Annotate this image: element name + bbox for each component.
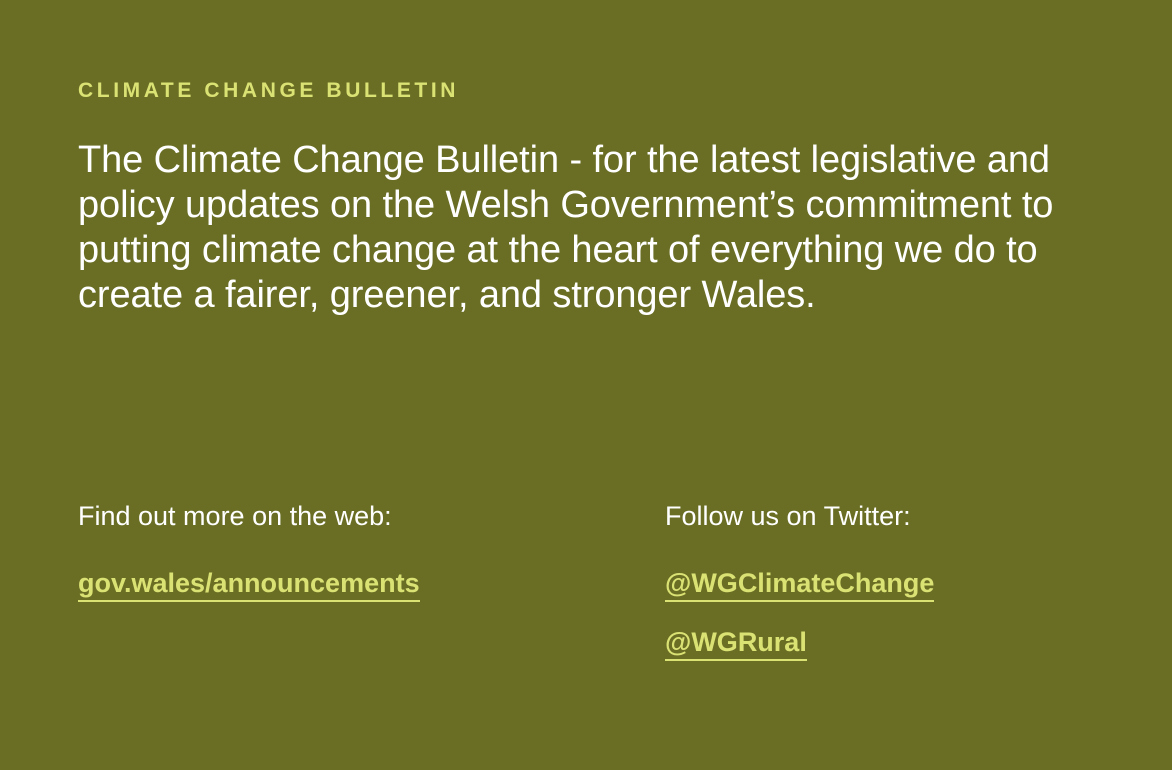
footer-column-social: Follow us on Twitter: @WGClimateChange @…: [665, 500, 1098, 661]
climate-change-bulletin-panel: CLIMATE CHANGE BULLETIN The Climate Chan…: [0, 0, 1172, 770]
bulletin-content: CLIMATE CHANGE BULLETIN The Climate Chan…: [78, 0, 1098, 318]
footer-label-web: Find out more on the web:: [78, 500, 392, 532]
link-gov-wales-announcements[interactable]: gov.wales/announcements: [78, 567, 420, 602]
bulletin-lead-paragraph: The Climate Change Bulletin - for the la…: [78, 102, 1098, 318]
footer-column-web: Find out more on the web: gov.wales/anno…: [78, 500, 665, 602]
link-wgclimatechange[interactable]: @WGClimateChange: [665, 567, 934, 602]
bulletin-eyebrow-heading: CLIMATE CHANGE BULLETIN: [78, 0, 1098, 102]
bulletin-footer: Find out more on the web: gov.wales/anno…: [78, 500, 1098, 661]
link-wgrural[interactable]: @WGRural: [665, 626, 807, 661]
footer-label-twitter: Follow us on Twitter:: [665, 500, 911, 532]
